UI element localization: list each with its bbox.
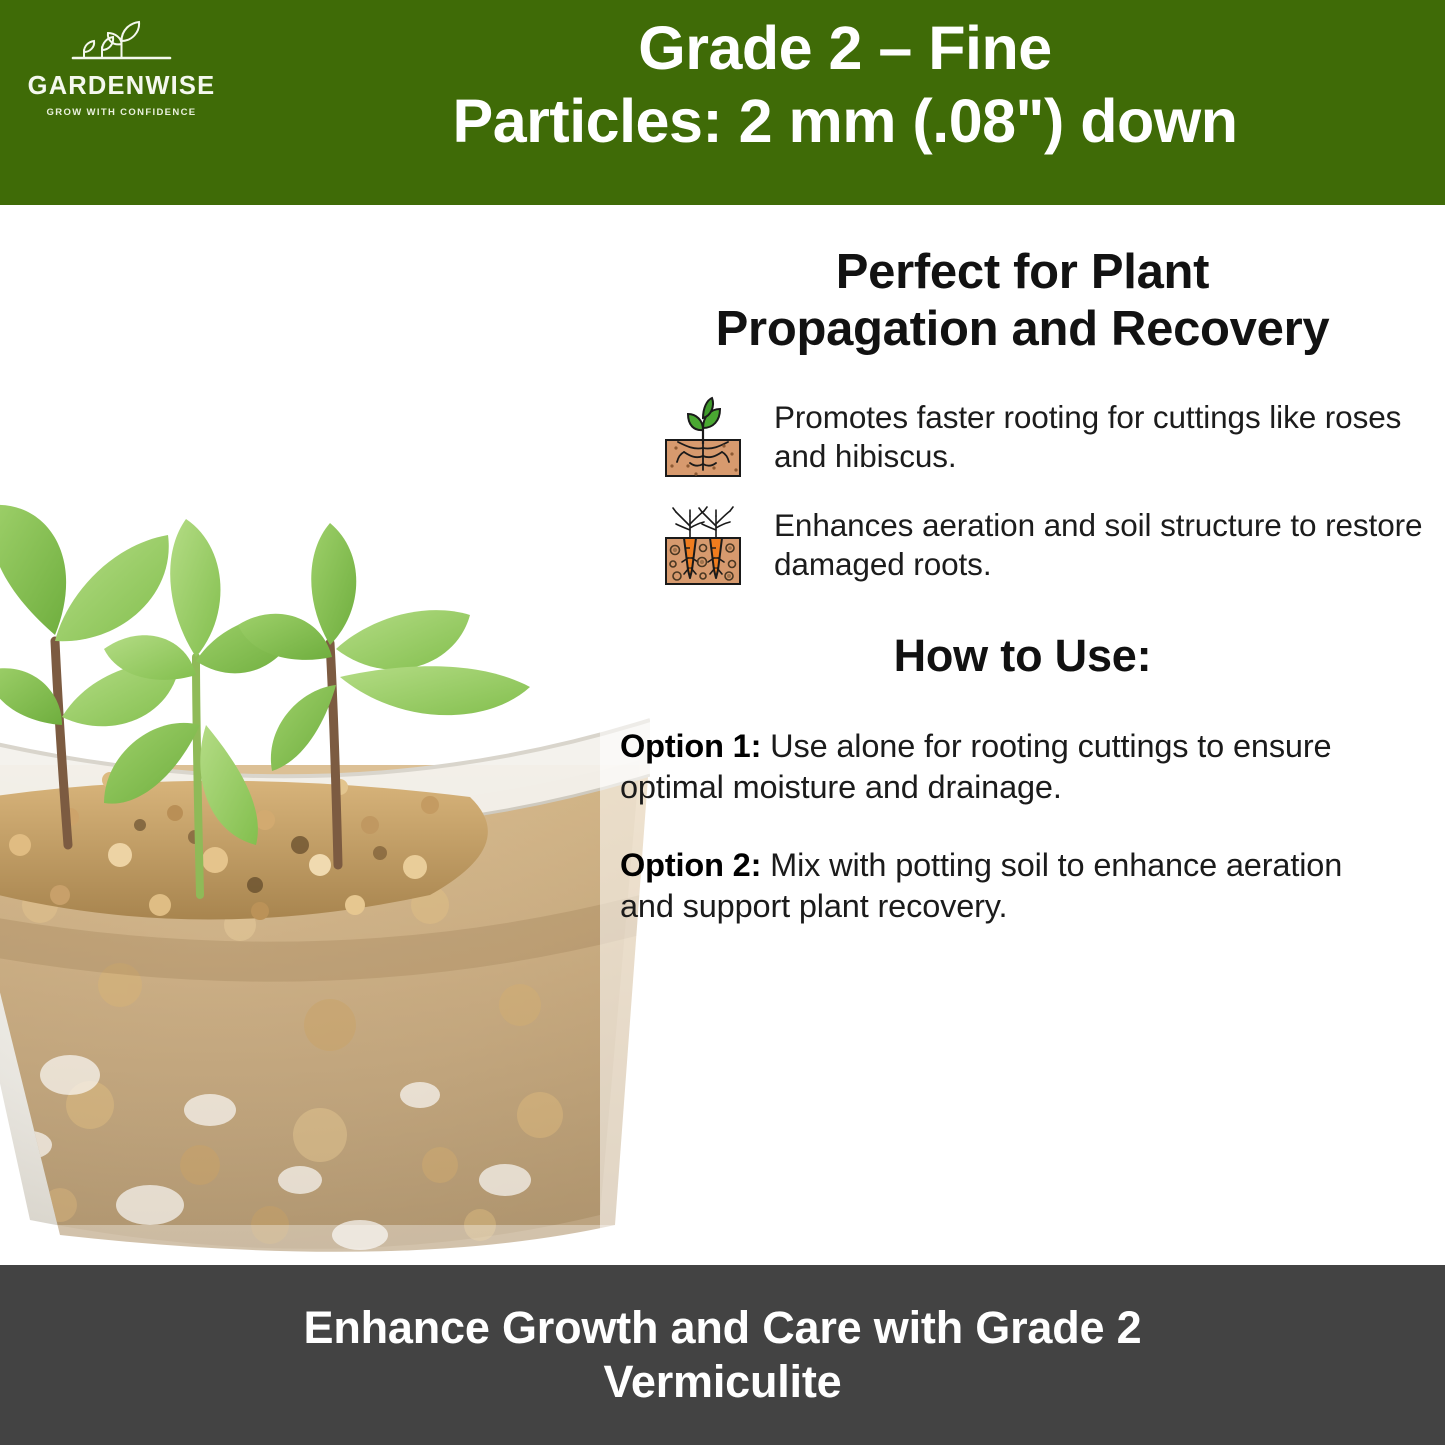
main-headline: Perfect for Plant Propagation and Recove… [600, 244, 1445, 358]
brand-tagline: GROW WITH CONFIDENCE [47, 107, 197, 118]
header-title-line2: Particles: 2 mm (.08") down [255, 85, 1435, 158]
option-item: Option 1: Use alone for rooting cuttings… [620, 726, 1403, 809]
header-title: Grade 2 – Fine Particles: 2 mm (.08") do… [255, 12, 1435, 158]
footer-banner: Enhance Growth and Care with Grade 2 Ver… [0, 1265, 1445, 1445]
seedlings-in-cup-photo [0, 205, 650, 1265]
benefit-text: Enhances aeration and soil structure to … [754, 500, 1445, 585]
option-item: Option 2: Mix with potting soil to enhan… [620, 845, 1403, 928]
seedling-with-roots-icon [662, 392, 754, 478]
carrots-in-soil-icon [662, 500, 754, 586]
content-panel: Perfect for Plant Propagation and Recove… [600, 230, 1445, 1265]
footer-line1: Enhance Growth and Care with Grade 2 [304, 1302, 1142, 1353]
option-label: Option 2: [620, 847, 761, 883]
product-photo [0, 205, 650, 1265]
howto-options: Option 1: Use alone for rooting cuttings… [600, 726, 1445, 928]
footer-text: Enhance Growth and Care with Grade 2 Ver… [93, 1301, 1353, 1409]
headline-line2: Propagation and Recovery [600, 301, 1445, 358]
benefit-item: Promotes faster rooting for cuttings lik… [662, 392, 1445, 478]
header-banner: GARDENWISE GROW WITH CONFIDENCE Grade 2 … [0, 0, 1445, 205]
benefit-item: Enhances aeration and soil structure to … [662, 500, 1445, 586]
howto-title: How to Use: [600, 630, 1445, 682]
benefit-text: Promotes faster rooting for cuttings lik… [754, 392, 1445, 477]
benefit-list: Promotes faster rooting for cuttings lik… [600, 392, 1445, 586]
product-infographic: GARDENWISE GROW WITH CONFIDENCE Grade 2 … [0, 0, 1445, 1445]
brand-name: GARDENWISE [28, 74, 216, 100]
footer-line2: Vermiculite [93, 1355, 1353, 1409]
headline-line1: Perfect for Plant [836, 245, 1209, 299]
header-title-line1: Grade 2 – Fine [638, 14, 1051, 82]
brand-logo: GARDENWISE GROW WITH CONFIDENCE [14, 14, 229, 118]
option-label: Option 1: [620, 728, 761, 764]
sprouting-seedlings-icon [69, 14, 174, 72]
